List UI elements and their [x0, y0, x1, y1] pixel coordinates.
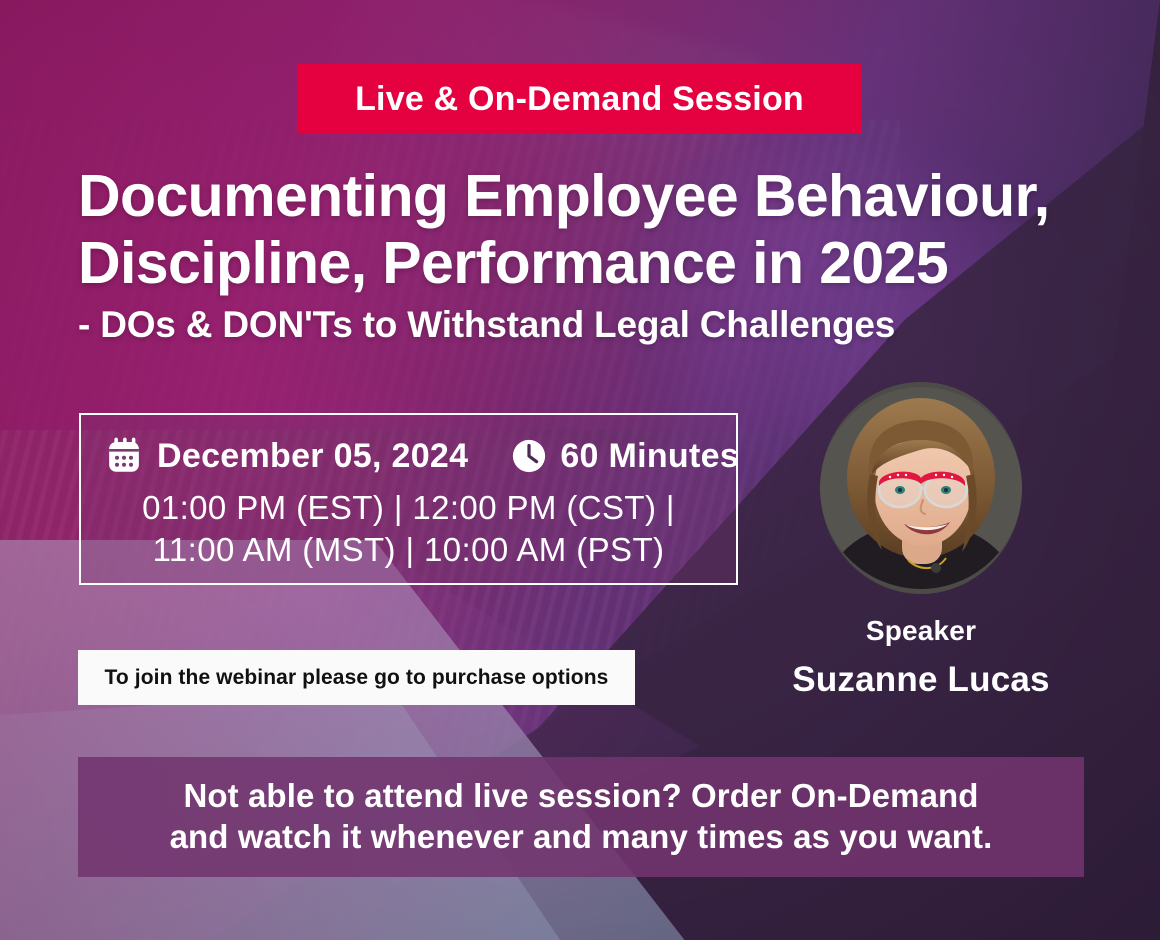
speaker-name: Suzanne Lucas — [770, 660, 1072, 700]
calendar-icon — [103, 435, 145, 477]
session-type-badge: Live & On-Demand Session — [297, 64, 862, 134]
purchase-options-button-label: To join the webinar please go to purchas… — [105, 666, 609, 690]
webinar-promo-banner: Live & On-Demand Session Documenting Emp… — [0, 0, 1160, 940]
speaker-avatar — [820, 382, 1022, 594]
on-demand-notice: Not able to attend live session? Order O… — [78, 757, 1084, 877]
session-date: December 05, 2024 — [157, 437, 468, 476]
session-type-badge-label: Live & On-Demand Session — [355, 82, 804, 116]
on-demand-notice-text: Not able to attend live session? Order O… — [146, 776, 1017, 858]
session-timezones-line-2: 11:00 AM (MST) | 10:00 AM (PST) — [99, 529, 718, 571]
page-title-line-1: Documenting Employee Behaviour, — [78, 163, 1088, 230]
session-timezones-line-1: 01:00 PM (EST) | 12:00 PM (CST) | — [99, 487, 718, 529]
banner-content: Live & On-Demand Session Documenting Emp… — [0, 0, 1160, 940]
session-duration: 60 Minutes — [560, 437, 739, 476]
page-title: Documenting Employee Behaviour, Discipli… — [78, 163, 1088, 298]
session-schedule-card: December 05, 2024 60 Minutes 01:00 PM (E… — [79, 413, 738, 585]
speaker-role-label: Speaker — [790, 615, 1052, 647]
on-demand-notice-line-2: and watch it whenever and many times as … — [170, 817, 993, 858]
page-title-line-2: Discipline, Performance in 2025 — [78, 230, 1088, 297]
on-demand-notice-line-1: Not able to attend live session? Order O… — [170, 776, 993, 817]
session-timezones: 01:00 PM (EST) | 12:00 PM (CST) | 11:00 … — [81, 487, 736, 571]
purchase-options-button[interactable]: To join the webinar please go to purchas… — [78, 650, 635, 705]
session-schedule-headline: December 05, 2024 60 Minutes — [81, 435, 736, 477]
page-subtitle: - DOs & DON'Ts to Withstand Legal Challe… — [78, 304, 1088, 347]
clock-icon — [510, 437, 548, 475]
